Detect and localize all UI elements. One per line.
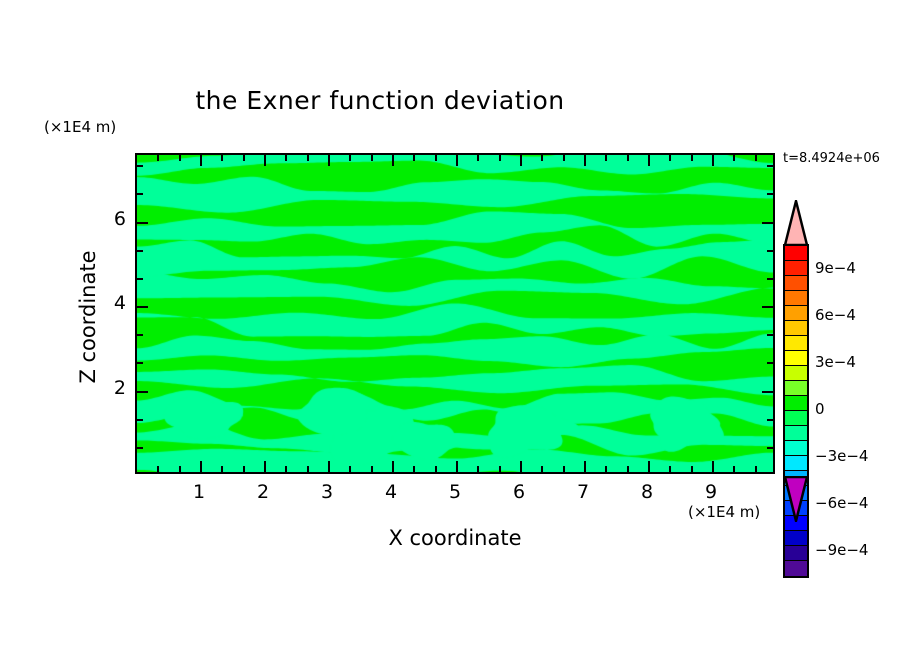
colorbar-band xyxy=(785,456,807,471)
contour-plot-area xyxy=(135,153,775,474)
x-tick-minor xyxy=(499,155,501,161)
x-tick-minor xyxy=(669,155,671,161)
x-tick-minor xyxy=(499,466,501,472)
x-tick-major xyxy=(456,461,458,472)
y-tick-label: 4 xyxy=(86,292,126,314)
x-tick-minor xyxy=(179,466,181,472)
x-tick-label: 7 xyxy=(563,481,603,503)
colorbar-band xyxy=(785,306,807,321)
x-tick-minor xyxy=(733,466,735,472)
x-tick-minor xyxy=(563,466,565,472)
x-tick-minor xyxy=(157,466,159,472)
x-axis-title: X coordinate xyxy=(270,526,640,550)
colorbar-under-arrow-icon xyxy=(783,476,809,522)
y-tick-minor xyxy=(767,165,773,167)
x-tick-minor xyxy=(157,155,159,161)
x-tick-minor xyxy=(541,466,543,472)
x-tick-major xyxy=(200,461,202,472)
x-tick-minor xyxy=(413,155,415,161)
colorbar: 9e−46e−43e−40−3e−4−6e−4−9e−4 xyxy=(783,200,809,520)
x-tick-label: 3 xyxy=(307,481,347,503)
y-tick-major xyxy=(137,391,148,393)
x-tick-major xyxy=(264,155,266,166)
x-tick-major xyxy=(200,155,202,166)
x-tick-minor xyxy=(307,466,309,472)
x-tick-major xyxy=(712,155,714,166)
y-tick-minor xyxy=(137,278,143,280)
y-tick-minor xyxy=(137,193,143,195)
x-tick-minor xyxy=(755,466,757,472)
x-tick-minor xyxy=(477,466,479,472)
x-tick-label: 5 xyxy=(435,481,475,503)
x-tick-minor xyxy=(669,466,671,472)
colorbar-band xyxy=(785,321,807,336)
x-tick-label: 4 xyxy=(371,481,411,503)
y-tick-major xyxy=(137,222,148,224)
x-tick-minor xyxy=(179,155,181,161)
x-tick-major xyxy=(328,461,330,472)
x-tick-minor xyxy=(349,466,351,472)
colorbar-bands xyxy=(783,244,809,578)
colorbar-band xyxy=(785,531,807,546)
y-tick-minor xyxy=(767,362,773,364)
x-tick-major xyxy=(264,461,266,472)
colorbar-band xyxy=(785,261,807,276)
page-title: the Exner function deviation xyxy=(0,86,760,115)
y-tick-minor xyxy=(137,362,143,364)
x-tick-major xyxy=(520,461,522,472)
colorbar-band xyxy=(785,546,807,561)
x-tick-minor xyxy=(733,155,735,161)
colorbar-band xyxy=(785,351,807,366)
y-tick-minor xyxy=(137,165,143,167)
x-tick-label: 2 xyxy=(243,481,283,503)
colorbar-tick-label: 6e−4 xyxy=(815,306,856,324)
x-axis-unit-label: (×1E4 m) xyxy=(688,503,760,521)
colorbar-band xyxy=(785,366,807,381)
colorbar-tick-label: 3e−4 xyxy=(815,353,856,371)
y-tick-minor xyxy=(137,447,143,449)
x-tick-minor xyxy=(435,155,437,161)
x-tick-major xyxy=(456,155,458,166)
x-tick-minor xyxy=(563,155,565,161)
x-tick-minor xyxy=(285,155,287,161)
x-tick-minor xyxy=(691,466,693,472)
contour-field-canvas xyxy=(137,155,773,472)
x-tick-minor xyxy=(691,155,693,161)
x-tick-minor xyxy=(243,466,245,472)
x-tick-major xyxy=(392,461,394,472)
x-tick-major xyxy=(584,461,586,472)
colorbar-over-arrow-icon xyxy=(783,200,809,246)
colorbar-tick-label: 9e−4 xyxy=(815,259,856,277)
y-tick-minor xyxy=(767,419,773,421)
x-tick-minor xyxy=(627,466,629,472)
colorbar-tick-label: −6e−4 xyxy=(815,494,868,512)
y-tick-minor xyxy=(767,278,773,280)
colorbar-band xyxy=(785,441,807,456)
y-tick-minor xyxy=(767,334,773,336)
x-tick-minor xyxy=(755,155,757,161)
x-tick-major xyxy=(328,155,330,166)
colorbar-band xyxy=(785,291,807,306)
y-tick-major xyxy=(762,222,773,224)
x-tick-minor xyxy=(413,466,415,472)
colorbar-band xyxy=(785,246,807,261)
y-tick-label: 6 xyxy=(86,208,126,230)
y-tick-minor xyxy=(137,334,143,336)
x-tick-label: 6 xyxy=(499,481,539,503)
colorbar-band xyxy=(785,276,807,291)
x-tick-minor xyxy=(243,155,245,161)
colorbar-band xyxy=(785,381,807,396)
y-axis-unit-label: (×1E4 m) xyxy=(44,118,116,136)
x-tick-major xyxy=(584,155,586,166)
x-tick-major xyxy=(712,461,714,472)
y-tick-label: 2 xyxy=(86,377,126,399)
x-tick-major xyxy=(648,461,650,472)
colorbar-band xyxy=(785,396,807,411)
y-tick-minor xyxy=(767,193,773,195)
colorbar-tick-label: −3e−4 xyxy=(815,447,868,465)
y-tick-major xyxy=(137,306,148,308)
colorbar-band xyxy=(785,561,807,576)
y-tick-minor xyxy=(767,447,773,449)
x-tick-minor xyxy=(221,155,223,161)
x-tick-minor xyxy=(477,155,479,161)
x-tick-minor xyxy=(285,466,287,472)
x-tick-minor xyxy=(605,466,607,472)
x-tick-major xyxy=(392,155,394,166)
x-tick-minor xyxy=(371,155,373,161)
x-tick-minor xyxy=(221,466,223,472)
x-tick-major xyxy=(648,155,650,166)
y-tick-major xyxy=(762,306,773,308)
colorbar-tick-label: 0 xyxy=(815,400,825,418)
x-tick-minor xyxy=(627,155,629,161)
y-tick-minor xyxy=(767,250,773,252)
x-tick-major xyxy=(520,155,522,166)
y-tick-major xyxy=(762,391,773,393)
x-tick-label: 1 xyxy=(179,481,219,503)
x-tick-minor xyxy=(435,466,437,472)
x-tick-minor xyxy=(605,155,607,161)
y-tick-minor xyxy=(137,419,143,421)
time-annotation: t=8.4924e+06 xyxy=(783,151,880,166)
x-tick-minor xyxy=(541,155,543,161)
colorbar-band xyxy=(785,426,807,441)
colorbar-band xyxy=(785,411,807,426)
x-tick-minor xyxy=(371,466,373,472)
colorbar-tick-label: −9e−4 xyxy=(815,541,868,559)
colorbar-band xyxy=(785,336,807,351)
x-tick-minor xyxy=(307,155,309,161)
x-tick-minor xyxy=(349,155,351,161)
x-tick-label: 8 xyxy=(627,481,667,503)
x-tick-label: 9 xyxy=(691,481,731,503)
y-tick-minor xyxy=(137,250,143,252)
